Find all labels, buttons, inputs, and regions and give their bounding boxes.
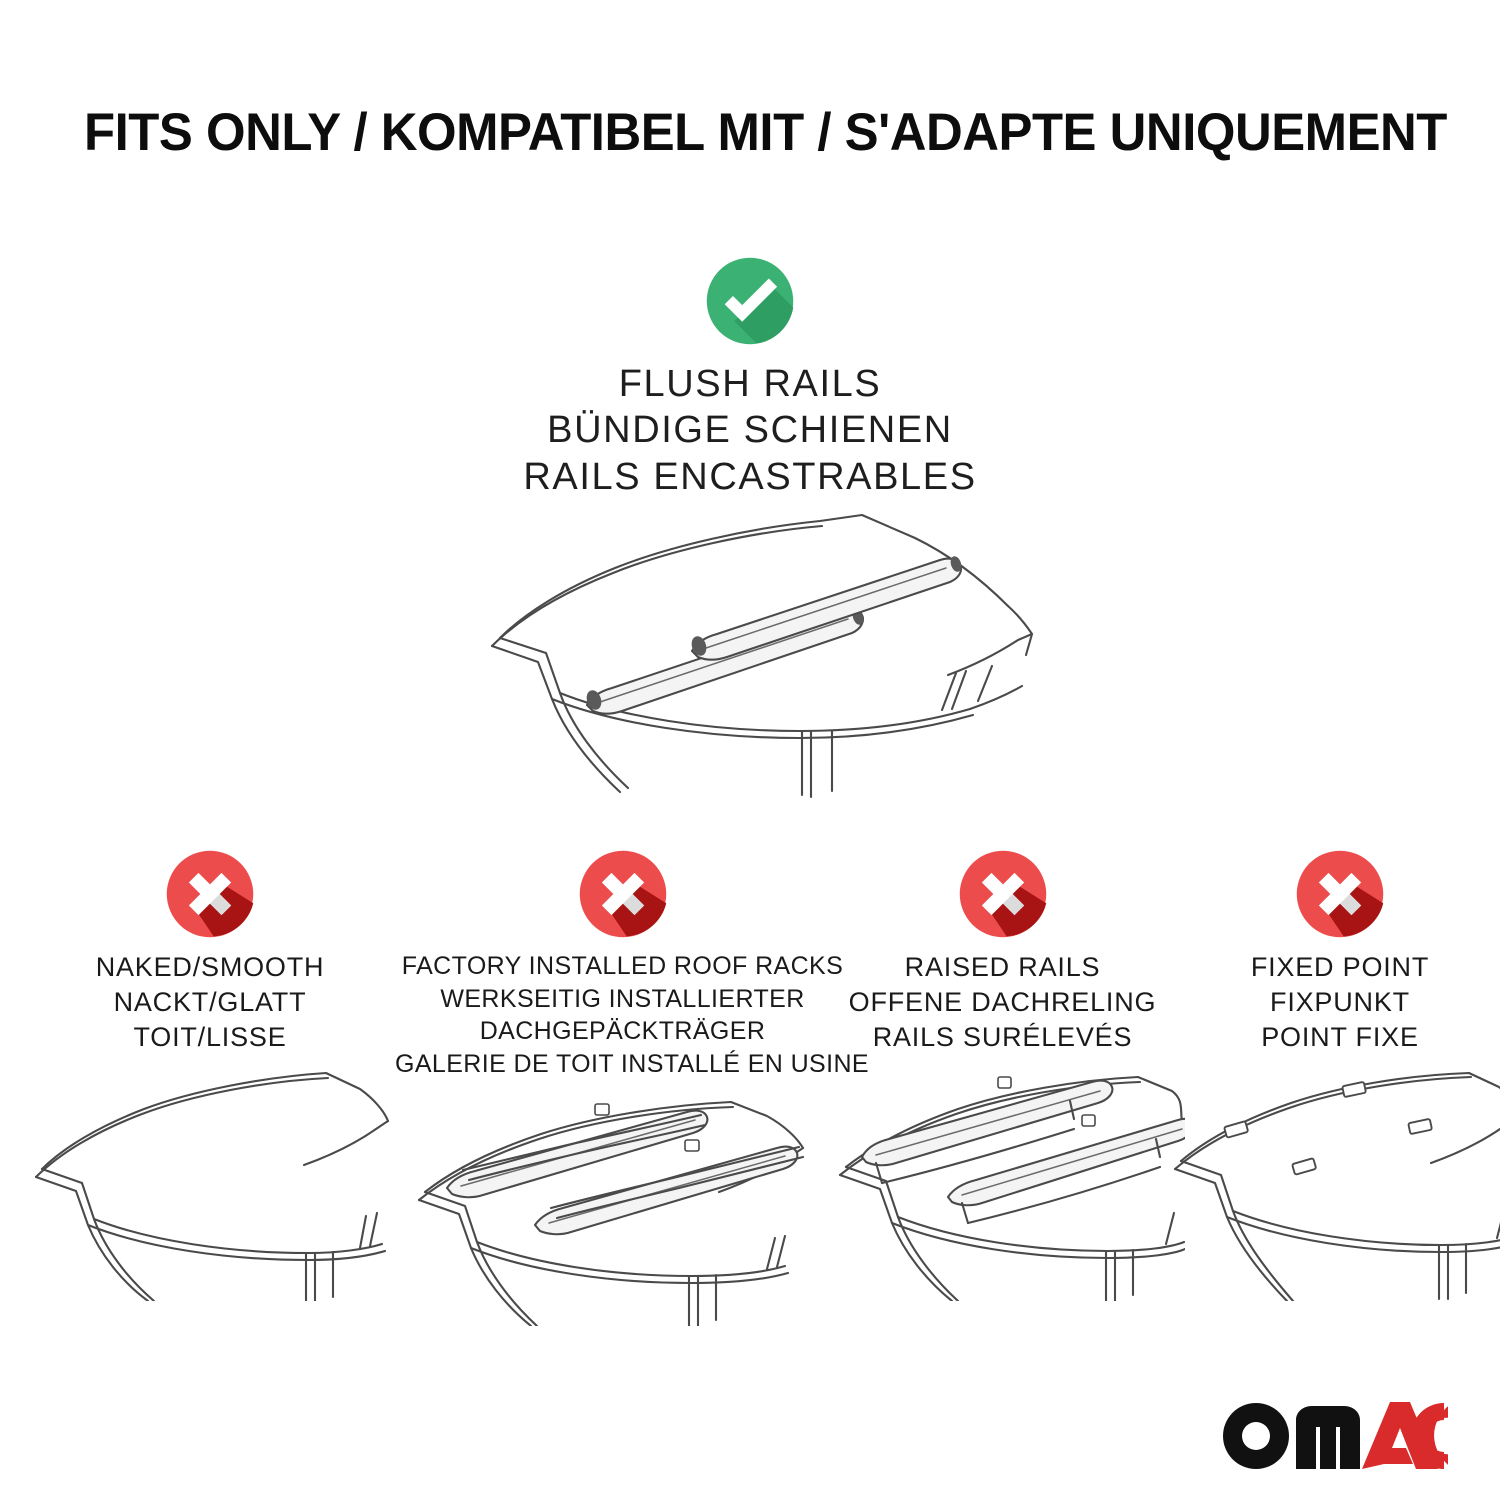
incompatible-labels: NAKED/SMOOTH NACKT/GLATT TOIT/LISSE bbox=[30, 950, 390, 1055]
red-x-icon bbox=[164, 848, 256, 940]
car-roof-fixed-point-illustration bbox=[1165, 1071, 1500, 1301]
page-title: FITS ONLY / KOMPATIBEL MIT / S'ADAPTE UN… bbox=[84, 104, 1370, 162]
incompatible-labels: RAISED RAILS OFFENE DACHRELING RAILS SUR… bbox=[820, 950, 1185, 1055]
green-check-icon bbox=[704, 255, 796, 347]
car-roof-flush-rails-illustration bbox=[470, 503, 1050, 803]
omac-logo-mark bbox=[1218, 1396, 1448, 1474]
incompatible-item-factory-roof-racks: FACTORY INSTALLED ROOF RACKS WERKSEITIG … bbox=[395, 848, 850, 1326]
red-x-icon bbox=[577, 848, 669, 940]
compatible-section: FLUSH RAILS BÜNDIGE SCHIENEN RAILS ENCAS… bbox=[0, 255, 1500, 500]
label-de-2: DACHGEPÄCKTRÄGER bbox=[395, 1015, 850, 1048]
logo-letter-o bbox=[1223, 1403, 1289, 1469]
incompatible-labels: FACTORY INSTALLED ROOF RACKS WERKSEITIG … bbox=[395, 950, 850, 1080]
label-en: FACTORY INSTALLED ROOF RACKS bbox=[395, 950, 850, 983]
car-roof-raised-rails-illustration bbox=[820, 1071, 1185, 1301]
label-de: OFFENE DACHRELING bbox=[820, 985, 1185, 1020]
incompatible-section: NAKED/SMOOTH NACKT/GLATT TOIT/LISSE bbox=[0, 848, 1500, 1488]
label-de: FIXPUNKT bbox=[1165, 985, 1500, 1020]
compatible-labels: FLUSH RAILS BÜNDIGE SCHIENEN RAILS ENCAS… bbox=[0, 361, 1500, 500]
logo-letter-m bbox=[1296, 1406, 1360, 1469]
label-fr: TOIT/LISSE bbox=[30, 1020, 390, 1055]
label-de: WERKSEITIG INSTALLIERTER bbox=[395, 983, 850, 1016]
label-en: FIXED POINT bbox=[1165, 950, 1500, 985]
incompatible-item-naked-smooth: NAKED/SMOOTH NACKT/GLATT TOIT/LISSE bbox=[30, 848, 390, 1301]
label-en: NAKED/SMOOTH bbox=[30, 950, 390, 985]
compatible-label-fr: RAILS ENCASTRABLES bbox=[0, 454, 1500, 500]
car-roof-factory-rack-illustration bbox=[395, 1096, 850, 1326]
incompatible-labels: FIXED POINT FIXPUNKT POINT FIXE bbox=[1165, 950, 1500, 1055]
label-fr: POINT FIXE bbox=[1165, 1020, 1500, 1055]
red-x-icon bbox=[1294, 848, 1386, 940]
label-en: RAISED RAILS bbox=[820, 950, 1185, 985]
omac-logo: om AC bbox=[1218, 1396, 1448, 1474]
label-fr: GALERIE DE TOIT INSTALLÉ EN USINE bbox=[395, 1048, 850, 1081]
car-roof-naked-illustration bbox=[30, 1071, 390, 1301]
label-de: NACKT/GLATT bbox=[30, 985, 390, 1020]
compatible-label-en: FLUSH RAILS bbox=[0, 361, 1500, 407]
red-x-icon bbox=[957, 848, 1049, 940]
incompatible-item-raised-rails: RAISED RAILS OFFENE DACHRELING RAILS SUR… bbox=[820, 848, 1185, 1301]
incompatible-item-fixed-point: FIXED POINT FIXPUNKT POINT FIXE bbox=[1165, 848, 1500, 1301]
compatible-label-de: BÜNDIGE SCHIENEN bbox=[0, 407, 1500, 453]
label-fr: RAILS SURÉLEVÉS bbox=[820, 1020, 1185, 1055]
